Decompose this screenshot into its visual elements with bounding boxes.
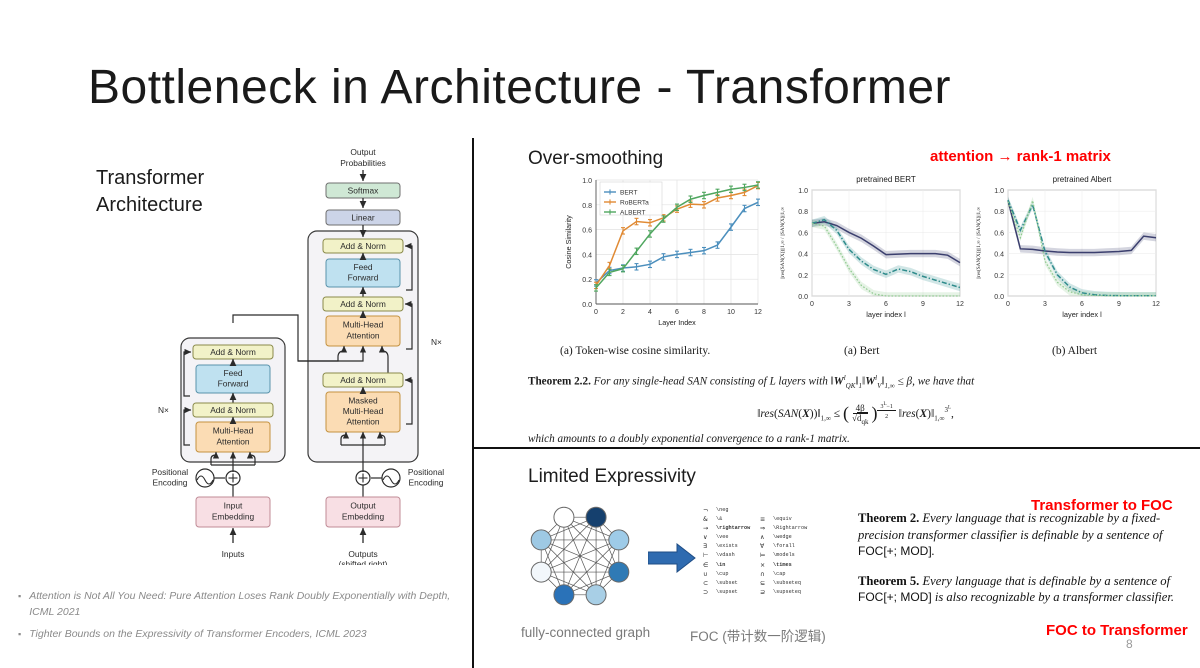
multi-head-line2: Attention: [216, 437, 249, 447]
symbol-cell: ∧: [760, 533, 773, 542]
symbol-table-row: ⊃\supset⊇\supseteq: [703, 588, 817, 597]
symbol-table-row: ⊂\subset⊆\subseteq: [703, 579, 817, 588]
svg-text:3: 3: [1043, 301, 1047, 308]
page-title: Bottleneck in Architecture - Transformer: [88, 60, 951, 115]
svg-text:pretrained Albert: pretrained Albert: [1053, 175, 1112, 184]
svg-text:6: 6: [675, 309, 679, 316]
svg-text:Cosine Similarity: Cosine Similarity: [564, 215, 573, 269]
svg-text:9: 9: [921, 301, 925, 308]
symbol-cell: ⊂: [703, 579, 716, 588]
multi-head-line1: Multi-Head: [213, 426, 254, 436]
arrow-right-icon: [648, 543, 696, 573]
footnote-text: Attention is Not All You Need: Pure Atte…: [29, 588, 468, 620]
theorem-2-paragraph: Theorem 2. Every language that is recogn…: [858, 510, 1188, 560]
oversmoothing-charts: 0.00.20.40.60.81.0024681012BERTRoBERTaAL…: [560, 168, 1190, 343]
symbol-cell: \times: [773, 561, 817, 570]
outputs-label: Outputs: [348, 549, 377, 559]
svg-text:0: 0: [810, 301, 814, 308]
theorem-2-label: Theorem 2.: [858, 511, 919, 525]
add-norm-label: Add & Norm: [340, 241, 386, 251]
symbol-table-row: ¬\neg: [703, 506, 817, 515]
svg-text:0.4: 0.4: [582, 252, 592, 259]
masked-line1: Masked: [348, 396, 378, 406]
svg-text:||res(SAN(X))||1,∞ / ||SAN(X)|: ||res(SAN(X))||1,∞ / ||SAN(X)||1,∞: [779, 207, 786, 279]
svg-text:2: 2: [621, 309, 625, 316]
theorem-5-mono: FOC[+; MOD]: [858, 590, 932, 604]
theorem-2-2-conclusion: which amounts to a doubly exponential co…: [528, 431, 1183, 447]
positional-line2: Encoding: [409, 478, 444, 488]
symbol-cell: [773, 506, 817, 515]
symbol-cell: \in: [716, 561, 760, 570]
add-norm-label: Add & Norm: [210, 405, 256, 415]
add-norm-label: Add & Norm: [210, 347, 256, 357]
section-heading-oversmoothing: Over-smoothing: [528, 148, 663, 170]
symbol-cell: ⊇: [760, 588, 773, 597]
masked-line3: Attention: [346, 417, 379, 427]
svg-text:pretrained BERT: pretrained BERT: [856, 175, 916, 184]
symbol-cell: →: [703, 524, 716, 533]
svg-text:0.8: 0.8: [798, 209, 808, 216]
svg-text:0.4: 0.4: [994, 252, 1004, 259]
symbol-cell: \vee: [716, 533, 760, 542]
symbol-table-row: &\&≡\equiv: [703, 515, 817, 524]
svg-text:12: 12: [754, 309, 762, 316]
symbol-table-row: ∨\vee∧\wedge: [703, 533, 817, 542]
symbol-cell: \neg: [716, 506, 760, 515]
svg-text:ALBERT: ALBERT: [620, 210, 646, 217]
caption-chart-albert: (b) Albert: [1052, 345, 1097, 357]
symbol-cell: \subset: [716, 579, 760, 588]
theorem-5-text-after: is also recognizable by a transformer cl…: [932, 590, 1174, 604]
symbol-table-row: ∃\exists∀\forall: [703, 542, 817, 551]
symbol-cell: ∃: [703, 542, 716, 551]
feed-forward-line2: Forward: [218, 379, 249, 389]
symbol-cell: ×: [760, 561, 773, 570]
symbol-table-row: ⊢\vdash⊨\models: [703, 551, 817, 560]
theorem-2-2-statement: Theorem 2.2. For any single-head SAN con…: [528, 370, 1183, 394]
add-norm-label: Add & Norm: [340, 299, 386, 309]
caption-chart-a: (a) Token-wise cosine similarity.: [560, 345, 710, 357]
symbol-cell: \rightarrow: [716, 524, 760, 533]
symbol-cell: \exists: [716, 542, 760, 551]
svg-text:8: 8: [702, 309, 706, 316]
symbol-cell: \wedge: [773, 533, 817, 542]
nx-decoder-label: N×: [431, 337, 442, 347]
positional-line2: Encoding: [153, 478, 188, 488]
inputs-label: Inputs: [222, 549, 245, 559]
positional-line1: Positional: [408, 467, 444, 477]
symbol-cell: \supset: [716, 588, 760, 597]
vertical-divider: [472, 138, 474, 668]
nx-encoder-label: N×: [158, 405, 169, 415]
symbol-cell: ∈: [703, 561, 716, 570]
bullet-icon: ▪: [18, 588, 21, 620]
feed-forward-line2: Forward: [348, 273, 379, 283]
svg-text:0.0: 0.0: [994, 294, 1004, 301]
positional-line1: Positional: [152, 467, 188, 477]
footnote-text: Tighter Bounds on the Expressivity of Tr…: [29, 626, 366, 642]
symbol-cell: \Rightarrow: [773, 524, 817, 533]
symbol-cell: &: [703, 515, 716, 524]
symbol-cell: \equiv: [773, 515, 817, 524]
page-number: 8: [1126, 637, 1133, 651]
latex-symbol-table: ¬\neg&\&≡\equiv→\rightarrow⇒\Rightarrow∨…: [703, 506, 831, 597]
output-probabilities-line2: Probabilities: [340, 158, 386, 168]
chart-caption-row: (a) Token-wise cosine similarity. (a) Be…: [560, 345, 1190, 365]
expressivity-theorems: Theorem 2. Every language that is recogn…: [858, 510, 1188, 619]
svg-text:1.0: 1.0: [582, 178, 592, 185]
symbol-table-row: ∈\in×\times: [703, 561, 817, 570]
svg-text:10: 10: [727, 309, 735, 316]
svg-text:0.6: 0.6: [582, 228, 592, 235]
masked-line2: Multi-Head: [343, 406, 384, 416]
svg-text:9: 9: [1117, 301, 1121, 308]
annotation-foc-to-transformer: FOC to Transformer: [1046, 622, 1188, 639]
input-embedding-line2: Embedding: [212, 512, 255, 522]
symbol-cell: \vdash: [716, 551, 760, 560]
svg-text:0.8: 0.8: [582, 203, 592, 210]
symbol-cell: \models: [773, 551, 817, 560]
svg-text:1.0: 1.0: [798, 188, 808, 195]
svg-text:6: 6: [1080, 301, 1084, 308]
svg-text:layer index l: layer index l: [866, 310, 906, 319]
chart-cosine-similarity: 0.00.20.40.60.81.0024681012BERTRoBERTaAL…: [560, 168, 765, 345]
svg-text:0: 0: [594, 309, 598, 316]
footnote-list: ▪ Attention is Not All You Need: Pure At…: [18, 588, 468, 648]
fully-connected-graph-image: [521, 497, 639, 615]
multi-head-line2: Attention: [346, 331, 379, 341]
output-embedding-line1: Output: [350, 501, 376, 511]
symbol-cell: \cup: [716, 570, 760, 579]
svg-text:layer index l: layer index l: [1062, 310, 1102, 319]
output-embedding-line2: Embedding: [342, 512, 385, 522]
caption-foc: FOC (带计数一阶逻辑): [690, 625, 826, 645]
svg-text:1.0: 1.0: [994, 188, 1004, 195]
symbol-cell: \cap: [773, 570, 817, 579]
svg-text:0.2: 0.2: [582, 277, 592, 284]
svg-text:6: 6: [884, 301, 888, 308]
svg-text:||res(SAN(X))||1,∞ / ||SAN(X)|: ||res(SAN(X))||1,∞ / ||SAN(X)||1,∞: [975, 207, 982, 279]
footnote-item: ▪ Tighter Bounds on the Expressivity of …: [18, 626, 468, 642]
svg-text:0.0: 0.0: [798, 294, 808, 301]
svg-text:RoBERTa: RoBERTa: [620, 200, 649, 207]
symbol-cell: ⊆: [760, 579, 773, 588]
linear-label: Linear: [351, 213, 374, 223]
transformer-architecture-diagram: Output Probabilities Softmax Linear Add …: [150, 145, 450, 565]
svg-text:Layer Index: Layer Index: [658, 318, 696, 327]
symbol-cell: ∀: [760, 542, 773, 551]
section-heading-expressivity: Limited Expressivity: [528, 466, 696, 488]
svg-text:0.2: 0.2: [798, 273, 808, 280]
svg-text:12: 12: [956, 301, 964, 308]
bullet-icon: ▪: [18, 626, 21, 642]
svg-text:0.4: 0.4: [798, 252, 808, 259]
symbol-cell: \supseteq: [773, 588, 817, 597]
svg-text:4: 4: [648, 309, 652, 316]
slide: Bottleneck in Architecture - Transformer…: [0, 0, 1200, 668]
output-probabilities-line1: Output: [350, 147, 376, 157]
softmax-label: Softmax: [348, 186, 380, 196]
theorem-2-2-equation: ‖res(SAN(X))‖1,∞ ≤ (4β√dqk)3L−12 ‖res(X)…: [528, 398, 1183, 429]
symbol-cell: \forall: [773, 542, 817, 551]
svg-text:0: 0: [1006, 301, 1010, 308]
svg-text:0.2: 0.2: [994, 273, 1004, 280]
symbol-cell: ⊢: [703, 551, 716, 560]
input-embedding-line1: Input: [224, 501, 243, 511]
svg-text:0.6: 0.6: [994, 230, 1004, 237]
svg-text:BERT: BERT: [620, 190, 637, 197]
theorem-5-label: Theorem 5.: [858, 574, 919, 588]
theorem-2-2-label: Theorem 2.2.: [528, 376, 591, 388]
footnote-item: ▪ Attention is Not All You Need: Pure At…: [18, 588, 468, 620]
chart-pretrained-bert: 0.00.20.40.60.81.0036912pretrained BERTl…: [772, 168, 967, 345]
svg-text:0.6: 0.6: [798, 230, 808, 237]
add-norm-label: Add & Norm: [340, 375, 386, 385]
symbol-cell: ∩: [760, 570, 773, 579]
symbol-cell: ⊃: [703, 588, 716, 597]
symbol-cell: [760, 506, 773, 515]
caption-fully-connected-graph: fully-connected graph: [521, 625, 650, 640]
symbol-table-row: ∪\cup∩\cap: [703, 570, 817, 579]
annotation-attention-rank1: attention → rank-1 matrix: [930, 148, 1111, 165]
multi-head-line1: Multi-Head: [343, 320, 384, 330]
chart-pretrained-albert: 0.00.20.40.60.81.0036912pretrained Alber…: [968, 168, 1168, 345]
theorem-2-2-block: Theorem 2.2. For any single-head SAN con…: [528, 370, 1183, 447]
symbol-cell: ⇒: [760, 524, 773, 533]
svg-text:0.8: 0.8: [994, 209, 1004, 216]
shifted-right-label: (shifted right): [339, 559, 388, 565]
theorem-5-paragraph: Theorem 5. Every language that is defina…: [858, 573, 1188, 606]
symbol-cell: \&: [716, 515, 760, 524]
symbol-table-row: →\rightarrow⇒\Rightarrow: [703, 524, 817, 533]
feed-forward-line1: Feed: [353, 262, 372, 272]
svg-text:12: 12: [1152, 301, 1160, 308]
symbol-cell: \subseteq: [773, 579, 817, 588]
feed-forward-line1: Feed: [223, 368, 242, 378]
theorem-2-text-after: .: [932, 544, 935, 558]
symbol-cell: ≡: [760, 515, 773, 524]
symbol-cell: ∪: [703, 570, 716, 579]
theorem-5-text-before: Every language that is definable by a se…: [922, 574, 1170, 588]
symbol-cell: ∨: [703, 533, 716, 542]
svg-text:0.0: 0.0: [582, 302, 592, 309]
svg-text:3: 3: [847, 301, 851, 308]
symbol-cell: ¬: [703, 506, 716, 515]
symbol-cell: ⊨: [760, 551, 773, 560]
theorem-2-mono: FOC[+; MOD]: [858, 544, 932, 558]
caption-chart-bert: (a) Bert: [844, 345, 879, 357]
